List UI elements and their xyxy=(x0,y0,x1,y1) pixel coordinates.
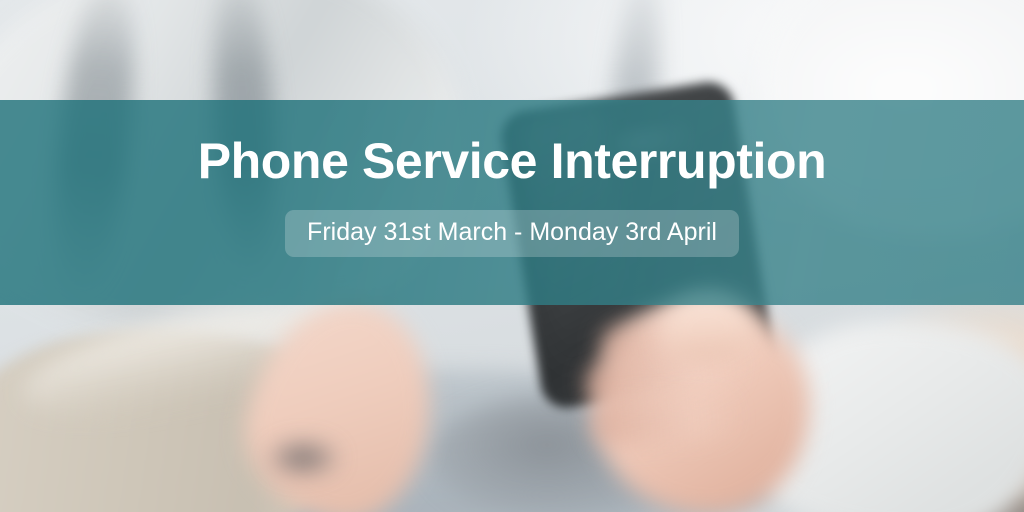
forearm-shadow xyxy=(268,440,338,476)
date-range-container: Friday 31st March - Monday 3rd April xyxy=(285,210,739,257)
phone-service-interruption-banner: Phone Service Interruption Friday 31st M… xyxy=(0,0,1024,512)
teal-overlay-band: Phone Service Interruption Friday 31st M… xyxy=(0,100,1024,305)
date-range-badge: Friday 31st March - Monday 3rd April xyxy=(285,210,739,257)
banner-title: Phone Service Interruption xyxy=(198,100,827,186)
